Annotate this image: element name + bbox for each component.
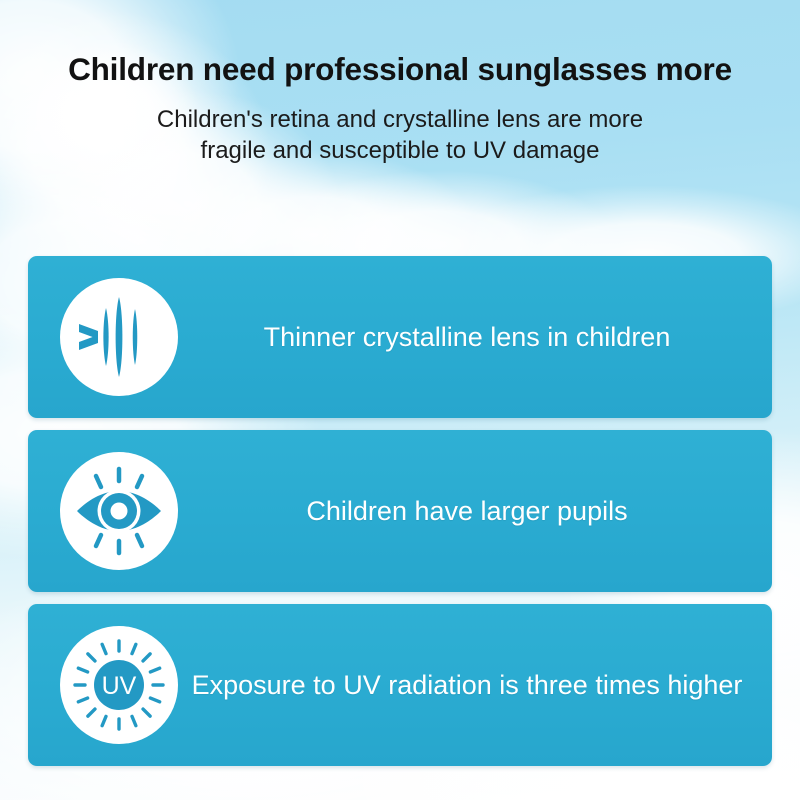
- feature-card-label: Children have larger pupils: [178, 494, 772, 529]
- subtitle-line-2: fragile and susceptible to UV damage: [0, 135, 800, 167]
- feature-card-uv[interactable]: UV Exposure to UV radiation is three tim…: [28, 604, 772, 766]
- uv-sun-icon: UV: [71, 637, 167, 733]
- feature-card-lens[interactable]: Thinner crystalline lens in children: [28, 256, 772, 418]
- eye-pupil-icon: [71, 463, 167, 559]
- icon-circle: [60, 452, 178, 570]
- crystalline-lens-icon: [73, 291, 165, 383]
- poster-root: Children need professional sunglasses mo…: [0, 0, 800, 800]
- icon-circle: [60, 278, 178, 396]
- uv-label: UV: [102, 672, 137, 700]
- subtitle-line-1: Children's retina and crystalline lens a…: [0, 104, 800, 136]
- poster-header: Children need professional sunglasses mo…: [0, 0, 800, 167]
- feature-card-label: Thinner crystalline lens in children: [178, 320, 772, 355]
- page-subtitle: Children's retina and crystalline lens a…: [0, 104, 800, 167]
- feature-card-list: Thinner crystalline lens in children: [28, 256, 772, 778]
- feature-card-pupil[interactable]: Children have larger pupils: [28, 430, 772, 592]
- page-title: Children need professional sunglasses mo…: [0, 52, 800, 87]
- icon-circle: UV: [60, 626, 178, 744]
- feature-card-label: Exposure to UV radiation is three times …: [178, 668, 772, 703]
